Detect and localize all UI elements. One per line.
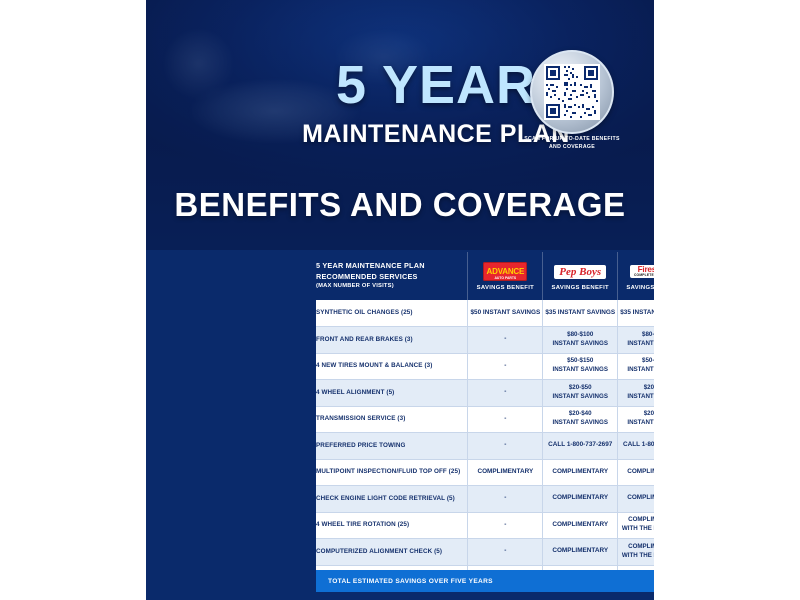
col-header-services: 5 YEAR MAINTENANCE PLAN RECOMMENDED SERV… bbox=[316, 252, 468, 300]
services-title-line2: RECOMMENDED SERVICES bbox=[316, 272, 467, 283]
services-title-line1: 5 YEAR MAINTENANCE PLAN bbox=[316, 261, 467, 272]
cell-firestone: $20-$40INSTANT SAVINGS bbox=[618, 406, 654, 433]
cell-advance-auto-parts: - bbox=[468, 433, 543, 460]
firestone-benefit-label: SAVINGS BENEFIT bbox=[618, 285, 654, 291]
advance-benefit-label: SAVINGS BENEFIT bbox=[468, 285, 542, 291]
table-row: 4 WHEEL ALIGNMENT (5)-$20-$50INSTANT SAV… bbox=[316, 380, 654, 407]
cell-firestone: COMPLIMENTARY bbox=[618, 459, 654, 486]
cell-firestone: COMPLIMENTARY bbox=[618, 486, 654, 513]
benefits-banner: BENEFITS AND COVERAGE bbox=[146, 186, 654, 224]
cell-service-name: TRANSMISSION SERVICE (3) bbox=[316, 406, 468, 433]
pepboys-logo-text: Pep Boys bbox=[554, 265, 606, 279]
cell-pep-boys: COMPLIMENTARY bbox=[543, 539, 618, 566]
cell-service-name: MULTIPOINT INSPECTION/FLUID TOP OFF (25) bbox=[316, 459, 468, 486]
table-header-row: 5 YEAR MAINTENANCE PLAN RECOMMENDED SERV… bbox=[316, 252, 654, 300]
cell-pep-boys: CALL 1-800-737-2697 bbox=[543, 433, 618, 460]
cell-firestone: $80-$100INSTANT SAVINGS bbox=[618, 327, 654, 354]
cell-service-name: 4 WHEEL TIRE ROTATION (25) bbox=[316, 512, 468, 539]
table-row: PREFERRED PRICE TOWING-CALL 1-800-737-26… bbox=[316, 433, 654, 460]
bottom-strip bbox=[316, 592, 654, 600]
col-header-advance-auto-parts: ADVANCE AUTO PARTS SAVINGS BENEFIT bbox=[468, 252, 543, 300]
cell-pep-boys: $20-$50INSTANT SAVINGS bbox=[543, 380, 618, 407]
firestone-logo-subtext: COMPLETE AUTO CARE bbox=[634, 274, 654, 277]
qr-caption: SCAN FOR UP-TO-DATE BENEFITS AND COVERAG… bbox=[524, 136, 620, 151]
hero-section: 5 YEAR MAINTENANCE PLAN BENEFITS AND COV… bbox=[146, 0, 654, 250]
cell-advance-auto-parts: - bbox=[468, 406, 543, 433]
cell-advance-auto-parts: - bbox=[468, 512, 543, 539]
cell-service-name: 4 WHEEL ALIGNMENT (5) bbox=[316, 380, 468, 407]
qr-code-icon[interactable] bbox=[544, 64, 600, 120]
cell-service-name: PREFERRED PRICE TOWING bbox=[316, 433, 468, 460]
cell-service-name: CHECK ENGINE LIGHT CODE RETRIEVAL (5) bbox=[316, 486, 468, 513]
cell-advance-auto-parts: - bbox=[468, 380, 543, 407]
advance-auto-parts-logo-icon: ADVANCE AUTO PARTS bbox=[468, 262, 542, 282]
cell-firestone: $50-$150INSTANT SAVINGS bbox=[618, 353, 654, 380]
qr-badge[interactable]: SCAN FOR UP-TO-DATE BENEFITS AND COVERAG… bbox=[524, 50, 620, 154]
table-row: TRANSMISSION SERVICE (3)-$20-$40INSTANT … bbox=[316, 406, 654, 433]
cell-firestone: CALL 1-800-752-0379 bbox=[618, 433, 654, 460]
cell-firestone: $35 INSTANT SAVINGS bbox=[618, 300, 654, 327]
cell-pep-boys: COMPLIMENTARY bbox=[543, 486, 618, 513]
cell-advance-auto-parts: - bbox=[468, 353, 543, 380]
pep-boys-logo-icon: Pep Boys bbox=[543, 262, 617, 282]
poster-body: 5 YEAR MAINTENANCE PLAN BENEFITS AND COV… bbox=[146, 0, 654, 600]
col-header-firestone: Firestone COMPLETE AUTO CARE SAVINGS BEN… bbox=[618, 252, 654, 300]
cell-service-name: 4 NEW TIRES MOUNT & BALANCE (3) bbox=[316, 353, 468, 380]
table-row: 4 WHEEL TIRE ROTATION (25)-COMPLIMENTARY… bbox=[316, 512, 654, 539]
cell-pep-boys: $50-$150INSTANT SAVINGS bbox=[543, 353, 618, 380]
cell-firestone: COMPLIMENTARYWITH THE PURCHASE bbox=[618, 539, 654, 566]
benefits-table-wrap: 5 YEAR MAINTENANCE PLAN RECOMMENDED SERV… bbox=[316, 252, 654, 592]
cell-pep-boys: $20-$40INSTANT SAVINGS bbox=[543, 406, 618, 433]
col-header-pep-boys: Pep Boys SAVINGS BENEFIT bbox=[543, 252, 618, 300]
cell-pep-boys: COMPLIMENTARY bbox=[543, 512, 618, 539]
cell-service-name: SYNTHETIC OIL CHANGES (25) bbox=[316, 300, 468, 327]
advance-logo-subtext: AUTO PARTS bbox=[483, 276, 527, 280]
cell-advance-auto-parts: - bbox=[468, 539, 543, 566]
poster-page: 5 YEAR MAINTENANCE PLAN BENEFITS AND COV… bbox=[0, 0, 800, 600]
table-row: CHECK ENGINE LIGHT CODE RETRIEVAL (5)-CO… bbox=[316, 486, 654, 513]
total-savings-label: TOTAL ESTIMATED SAVINGS OVER FIVE YEARS bbox=[328, 578, 493, 585]
cell-firestone: COMPLIMENTARYWITH THE PURCHASE bbox=[618, 512, 654, 539]
table-row: MULTIPOINT INSPECTION/FLUID TOP OFF (25)… bbox=[316, 459, 654, 486]
cell-service-name: FRONT AND REAR BRAKES (3) bbox=[316, 327, 468, 354]
cell-firestone: $20-$50INSTANT SAVINGS bbox=[618, 380, 654, 407]
pepboys-benefit-label: SAVINGS BENEFIT bbox=[543, 285, 617, 291]
cell-pep-boys: $35 INSTANT SAVINGS bbox=[543, 300, 618, 327]
cell-advance-auto-parts: COMPLIMENTARY bbox=[468, 459, 543, 486]
cell-advance-auto-parts: - bbox=[468, 327, 543, 354]
table-row: FRONT AND REAR BRAKES (3)-$80-$100INSTAN… bbox=[316, 327, 654, 354]
cell-pep-boys: $80-$100INSTANT SAVINGS bbox=[543, 327, 618, 354]
cell-pep-boys: COMPLIMENTARY bbox=[543, 459, 618, 486]
total-savings-bar: TOTAL ESTIMATED SAVINGS OVER FIVE YEARS … bbox=[316, 570, 654, 592]
table-body: SYNTHETIC OIL CHANGES (25)$50 INSTANT SA… bbox=[316, 300, 654, 592]
services-title-line3: (MAX NUMBER OF VISITS) bbox=[316, 282, 467, 290]
advance-logo-text: ADVANCE bbox=[487, 268, 525, 276]
table-row: COMPUTERIZED ALIGNMENT CHECK (5)-COMPLIM… bbox=[316, 539, 654, 566]
firestone-logo-icon: Firestone COMPLETE AUTO CARE bbox=[618, 262, 654, 282]
benefits-table: 5 YEAR MAINTENANCE PLAN RECOMMENDED SERV… bbox=[316, 252, 654, 592]
table-header: 5 YEAR MAINTENANCE PLAN RECOMMENDED SERV… bbox=[316, 252, 654, 300]
table-row: SYNTHETIC OIL CHANGES (25)$50 INSTANT SA… bbox=[316, 300, 654, 327]
cell-advance-auto-parts: $50 INSTANT SAVINGS bbox=[468, 300, 543, 327]
cell-advance-auto-parts: - bbox=[468, 486, 543, 513]
cell-service-name: COMPUTERIZED ALIGNMENT CHECK (5) bbox=[316, 539, 468, 566]
table-row: 4 NEW TIRES MOUNT & BALANCE (3)-$50-$150… bbox=[316, 353, 654, 380]
